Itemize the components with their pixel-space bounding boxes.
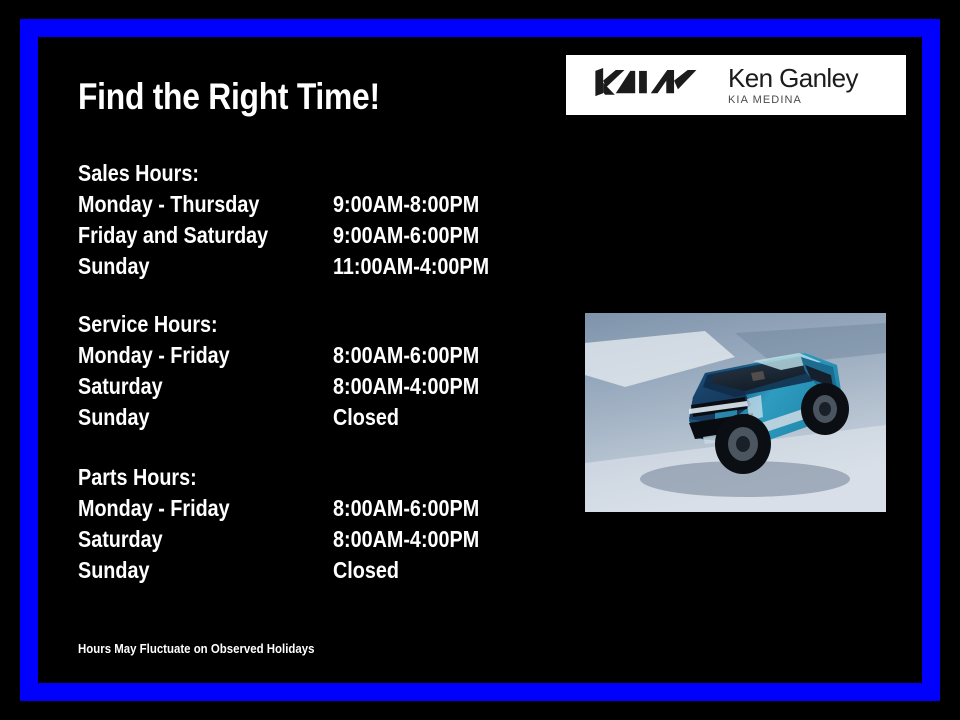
- hours-row-time: 8:00AM-4:00PM: [333, 371, 479, 402]
- hours-row-day: Sunday: [78, 402, 149, 433]
- hours-row-day: Friday and Saturday: [78, 220, 268, 251]
- hours-row-time: Closed: [333, 555, 399, 586]
- holiday-disclaimer: Hours May Fluctuate on Observed Holidays: [78, 641, 314, 656]
- kia-ev9-suv-photo: [585, 313, 886, 512]
- hours-slide: Find the Right Time! Sales Hours: Monday…: [0, 0, 960, 720]
- parts-hours-heading: Parts Hours:: [78, 462, 197, 493]
- hours-row-time: 8:00AM-6:00PM: [333, 340, 479, 371]
- hours-row-day: Monday - Friday: [78, 340, 230, 371]
- hours-row-time: 8:00AM-4:00PM: [333, 524, 479, 555]
- hours-row: Sunday 11:00AM-4:00PM: [78, 251, 219, 282]
- page-title: Find the Right Time!: [78, 76, 380, 118]
- suv-illustration: [585, 313, 886, 512]
- hours-row-time: 11:00AM-4:00PM: [333, 251, 489, 282]
- hours-row: Sunday Closed: [78, 402, 240, 433]
- hours-row-time: 9:00AM-8:00PM: [333, 189, 479, 220]
- hours-row-day: Monday - Friday: [78, 493, 230, 524]
- hours-row-day: Monday - Thursday: [78, 189, 259, 220]
- hours-row: Monday - Friday 8:00AM-6:00PM: [78, 340, 240, 371]
- kia-logo-icon: [583, 68, 701, 102]
- hours-row-day: Sunday: [78, 251, 149, 282]
- hours-row: Monday - Thursday 9:00AM-8:00PM: [78, 189, 219, 220]
- hours-row-day: Saturday: [78, 524, 163, 555]
- hours-row-time: Closed: [333, 402, 399, 433]
- hours-row: Sunday Closed: [78, 555, 216, 586]
- sales-hours-heading: Sales Hours:: [78, 158, 199, 189]
- hours-row: Friday and Saturday 9:00AM-6:00PM: [78, 220, 219, 251]
- hours-row-day: Sunday: [78, 555, 149, 586]
- hours-row-time: 8:00AM-6:00PM: [333, 493, 479, 524]
- dealer-text-group: Ken Ganley KIA MEDINA: [728, 65, 858, 106]
- sales-hours-block: Sales Hours: Monday - Thursday 9:00AM-8:…: [78, 158, 219, 282]
- dealer-logo-banner: Ken Ganley KIA MEDINA: [566, 55, 906, 115]
- service-hours-block: Service Hours: Monday - Friday 8:00AM-6:…: [78, 309, 240, 433]
- dealer-name: Ken Ganley: [728, 65, 858, 91]
- hours-row-day: Saturday: [78, 371, 163, 402]
- dealer-location: KIA MEDINA: [728, 95, 858, 106]
- hours-row-time: 9:00AM-6:00PM: [333, 220, 479, 251]
- hours-row: Saturday 8:00AM-4:00PM: [78, 524, 216, 555]
- hours-row: Monday - Friday 8:00AM-6:00PM: [78, 493, 216, 524]
- hours-row: Saturday 8:00AM-4:00PM: [78, 371, 240, 402]
- service-hours-heading: Service Hours:: [78, 309, 218, 340]
- parts-hours-block: Parts Hours: Monday - Friday 8:00AM-6:00…: [78, 462, 216, 586]
